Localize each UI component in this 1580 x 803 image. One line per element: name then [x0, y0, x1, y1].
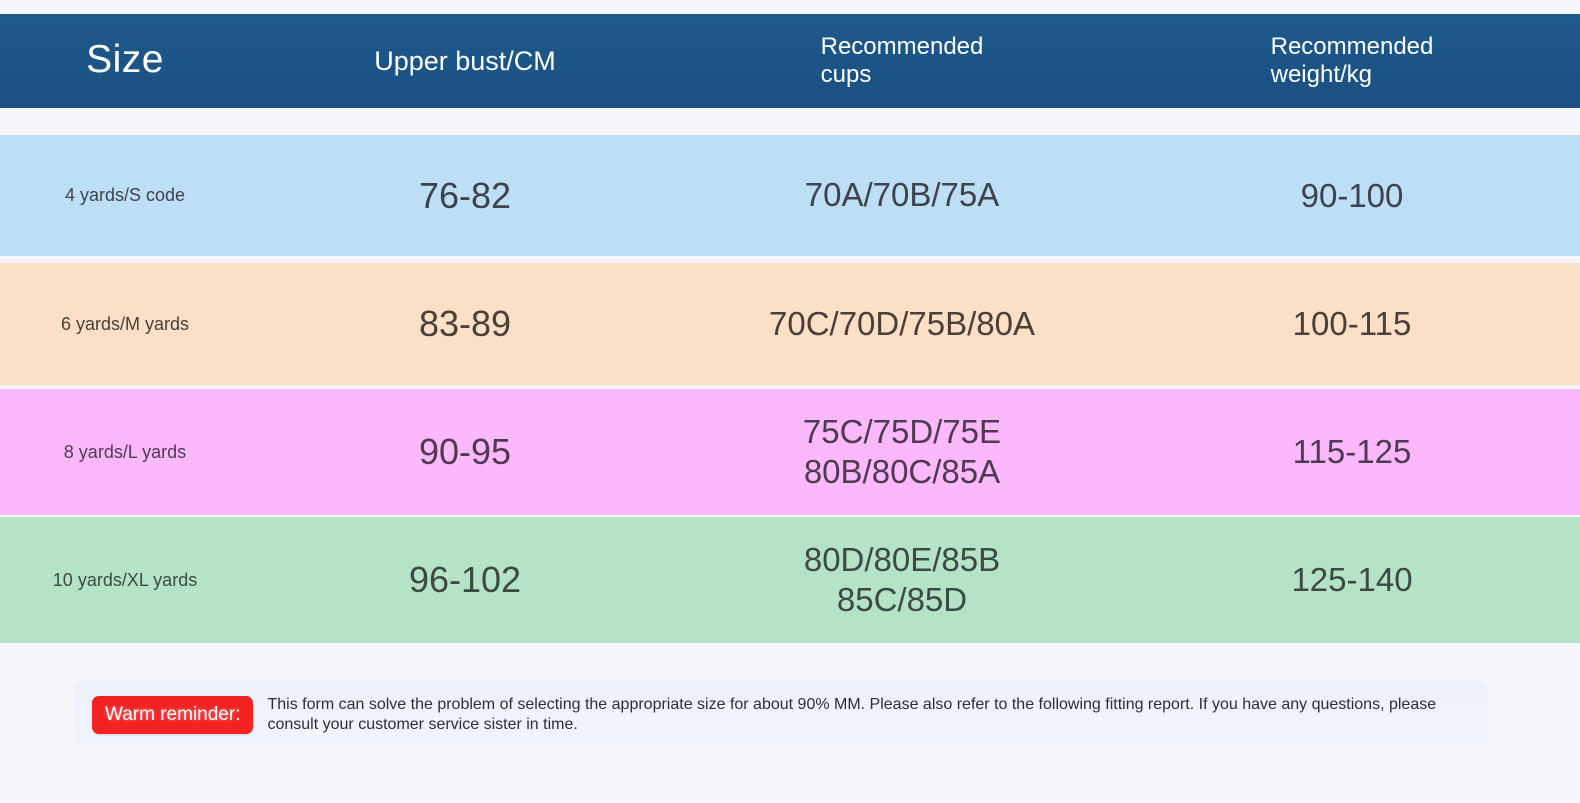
cell-upper-bust: 76-82 — [250, 175, 680, 217]
size-chart-page: Size Upper bust/CM Recommended cups Reco… — [0, 0, 1580, 803]
cell-size: 8 yards/L yards — [0, 442, 250, 463]
cell-upper-bust: 90-95 — [250, 431, 680, 473]
cell-size: 10 yards/XL yards — [0, 570, 250, 591]
cell-recommended-cups: 70C/70D/75B/80A — [680, 304, 1124, 344]
column-header-weight-text: Recommended weight/kg — [1271, 33, 1434, 90]
column-header-cups-text: Recommended cups — [821, 33, 984, 90]
cell-size: 4 yards/S code — [0, 185, 250, 206]
column-header-size: Size — [0, 38, 250, 84]
cell-upper-bust: 96-102 — [250, 559, 680, 601]
table-row: 6 yards/M yards 83-89 70C/70D/75B/80A 10… — [0, 263, 1580, 385]
cell-recommended-cups: 80D/80E/85B 85C/85D — [680, 540, 1124, 621]
column-header-recommended-cups: Recommended cups — [680, 33, 1124, 90]
column-header-upper-bust: Upper bust/CM — [250, 46, 680, 77]
warm-reminder-badge: Warm reminder: — [92, 696, 253, 734]
cell-recommended-weight: 125-140 — [1124, 561, 1580, 599]
table-row: 10 yards/XL yards 96-102 80D/80E/85B 85C… — [0, 517, 1580, 643]
cell-upper-bust: 83-89 — [250, 303, 680, 345]
warm-reminder-box: Warm reminder: This form can solve the p… — [74, 681, 1488, 749]
cell-recommended-weight: 100-115 — [1124, 305, 1580, 343]
column-header-recommended-weight: Recommended weight/kg — [1124, 33, 1580, 90]
cell-recommended-weight: 90-100 — [1124, 177, 1580, 215]
table-row: 8 yards/L yards 90-95 75C/75D/75E 80B/80… — [0, 389, 1580, 515]
table-row: 4 yards/S code 76-82 70A/70B/75A 90-100 — [0, 135, 1580, 256]
cell-recommended-cups: 75C/75D/75E 80B/80C/85A — [680, 412, 1124, 493]
cell-recommended-weight: 115-125 — [1124, 433, 1580, 471]
table-header-row: Size Upper bust/CM Recommended cups Reco… — [0, 14, 1580, 108]
cell-size: 6 yards/M yards — [0, 314, 250, 335]
cell-recommended-cups: 70A/70B/75A — [680, 175, 1124, 215]
warm-reminder-text: This form can solve the problem of selec… — [267, 695, 1474, 734]
